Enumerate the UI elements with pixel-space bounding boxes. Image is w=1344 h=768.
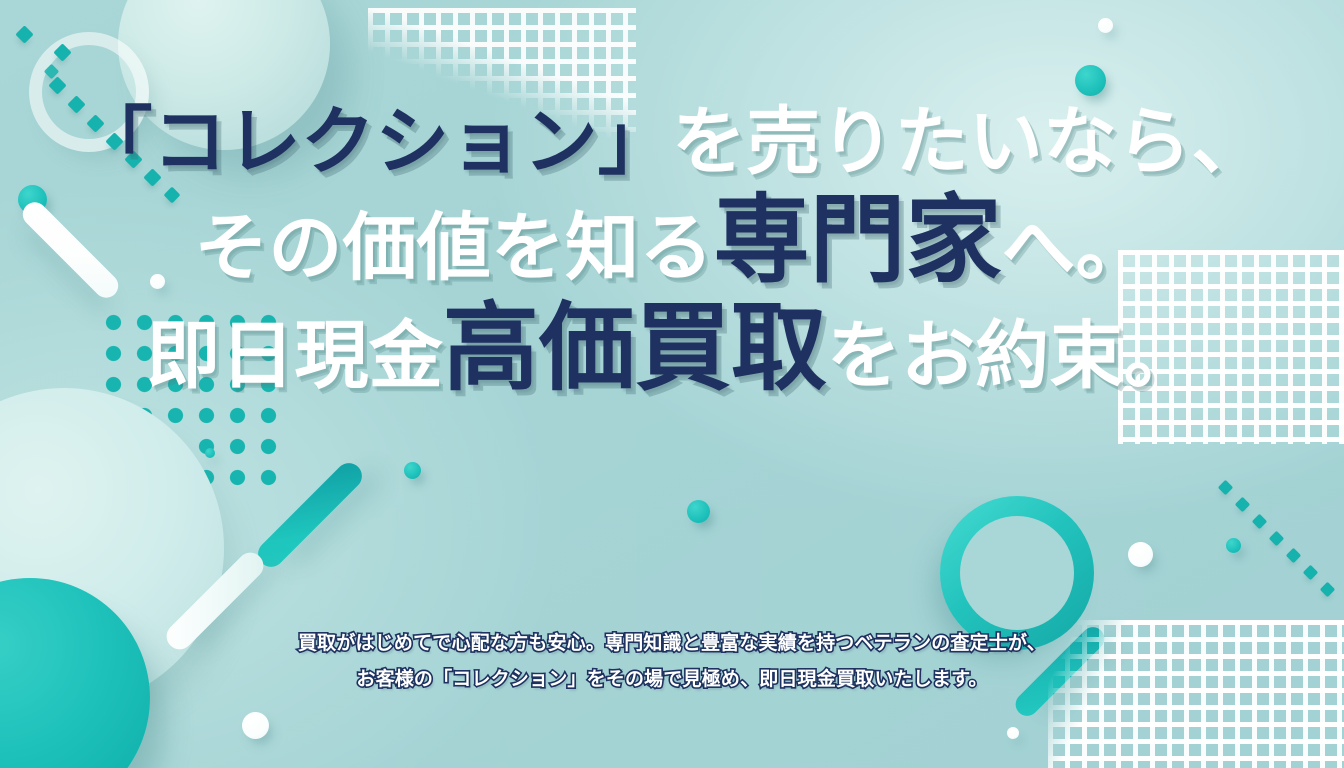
headline-line2-seg3: へ。 [1001,206,1149,289]
headline-line-3: 即日現金高価買取をお約束。 [0,301,1344,397]
subtitle: 買取がはじめてで心配な方も安心。専門知識と豊富な実績を持つベテランの査定士が、 … [0,626,1344,699]
white-dot-icon [1098,18,1113,33]
headline-line3-seg2: 高価買取 [443,295,827,402]
subtitle-line-2: お客様の「コレクション」をその場で見極め、即日現金買取いたします。 [0,662,1344,698]
white-dot-icon [1007,727,1019,739]
teal-dot-icon [687,500,710,523]
headline-line2-seg1: その価値を知る [194,206,713,289]
teal-dot-icon [205,448,215,458]
teal-diamond-diagonal-icon-2 [1218,478,1344,608]
subtitle-line-1: 買取がはじめてで心配な方も安心。専門知識と豊富な実績を持つベテランの査定士が、 [0,626,1344,662]
hero-banner: 「コレクション」を売りたいなら、 その価値を知る専門家へ。 即日現金高価買取をお… [0,0,1344,768]
teal-dot-icon [404,462,421,479]
teal-diagonal-bar-icon [253,458,368,573]
headline-line3-seg3: をお約束。 [827,314,1198,397]
headline-line1-seg2: を売りたいなら、 [672,100,1266,183]
white-dot-icon [1128,542,1153,567]
headline-line-1: 「コレクション」を売りたいなら、 [0,104,1344,181]
headline-line1-seg1: 「コレクション」 [78,100,672,183]
headline-line3-seg1: 即日現金 [146,314,443,397]
headline: 「コレクション」を売りたいなら、 その価値を知る専門家へ。 即日現金高価買取をお… [0,104,1344,397]
teal-dot-icon [1226,538,1241,553]
headline-line-2: その価値を知る専門家へ。 [0,193,1344,289]
teal-dot-icon [1075,65,1106,96]
headline-line2-seg2: 専門家 [713,187,1001,294]
white-dot-icon [242,712,269,739]
